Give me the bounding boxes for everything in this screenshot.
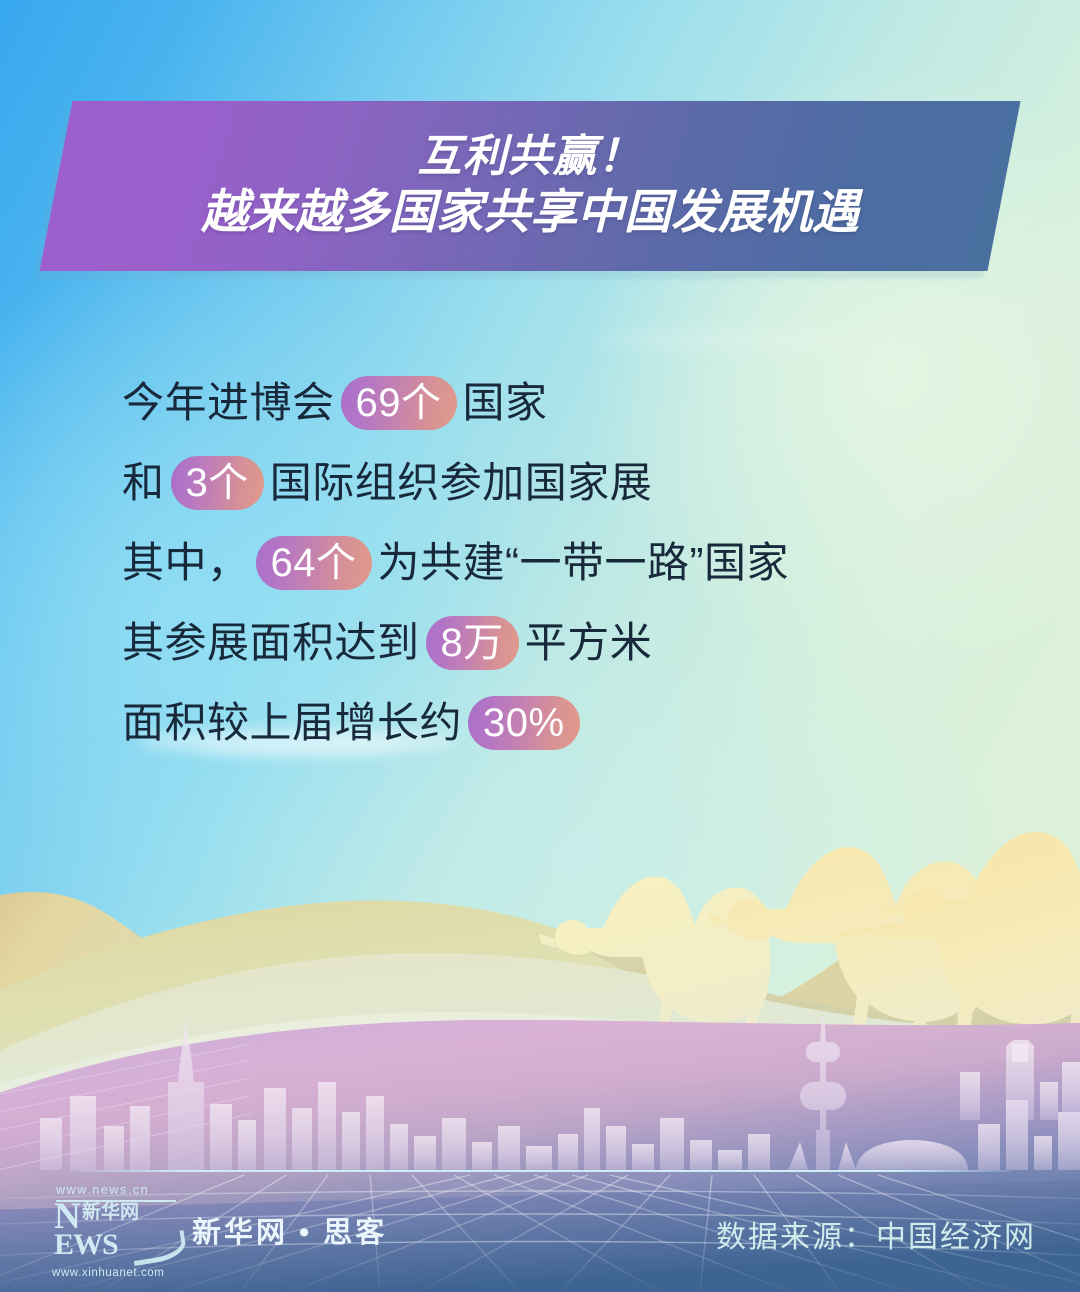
- camel-silhouette-3: [836, 832, 1080, 1066]
- footer-divider: [70, 1170, 1010, 1172]
- statement-1-post: 国家: [463, 382, 548, 424]
- statement-row-4: 其参展面积达到 8万 平方米: [122, 603, 1022, 683]
- statement-4-pre: 其参展面积达到: [122, 622, 420, 664]
- statement-2-pre: 和: [122, 462, 165, 504]
- cloud-wisp-3: [600, 330, 860, 350]
- statement-5-pre: 面积较上届增长约: [122, 702, 462, 744]
- city-skyline: [40, 1000, 1080, 1170]
- statement-2-highlight: 3个: [171, 456, 264, 510]
- title-line-1: 互利共赢！: [418, 132, 643, 182]
- xinhua-logo: www.news.cn N 新华网 EWS www.xinhuanet.com: [48, 1183, 188, 1279]
- brand-name: 新华网 • 思客: [192, 1209, 387, 1251]
- statement-row-2: 和 3个 国际组织参加国家展: [122, 443, 1022, 523]
- infographic-poster: 互利共赢！ 越来越多国家共享中国发展机遇 今年进博会 69个 国家 和 3个 国…: [0, 0, 1080, 1292]
- statement-row-1: 今年进博会 69个 国家: [122, 363, 1022, 443]
- logo-letter-n: N: [54, 1204, 81, 1230]
- light-streaks: [0, 1044, 250, 1176]
- data-source: 数据来源：中国经济网: [716, 1212, 1036, 1256]
- statement-1-pre: 今年进博会: [122, 382, 335, 424]
- title-line-2: 越来越多国家共享中国发展机遇: [201, 184, 859, 240]
- statement-row-5: 面积较上届增长约 30%: [122, 683, 1022, 763]
- city-skyline-right: [960, 1040, 1080, 1120]
- statement-list: 今年进博会 69个 国家 和 3个 国际组织参加国家展 其中， 64个 为共建“…: [122, 363, 1022, 763]
- statement-1-highlight: 69个: [341, 376, 457, 430]
- statement-3-highlight: 64个: [256, 536, 372, 590]
- statement-2-post: 国际组织参加国家展: [270, 462, 653, 504]
- camel-silhouette-2: [709, 847, 987, 1060]
- logo-divider: [56, 1200, 176, 1202]
- statement-row-3: 其中， 64个 为共建“一带一路”国家: [122, 523, 1022, 603]
- logo-cn-name: 新华网: [82, 1203, 139, 1223]
- logo-top-url: www.news.cn: [56, 1183, 149, 1197]
- perspective-grid: [0, 1175, 1080, 1292]
- statement-3-pre: 其中，: [122, 542, 250, 584]
- title-banner-shape: 互利共赢！ 越来越多国家共享中国发展机遇: [39, 101, 1020, 271]
- logo-news-text: EWS: [54, 1231, 118, 1259]
- logo-mark: N 新华网 EWS: [54, 1204, 182, 1260]
- statement-5-highlight: 30%: [468, 696, 580, 750]
- camel-silhouette-1: [539, 876, 770, 1056]
- logo-swoosh-icon: [130, 1230, 188, 1266]
- logo-bottom-url: www.xinhuanet.com: [52, 1267, 164, 1279]
- title-banner: 互利共赢！ 越来越多国家共享中国发展机遇: [0, 101, 1080, 273]
- statement-3-post: 为共建“一带一路”国家: [378, 542, 789, 584]
- statement-4-highlight: 8万: [426, 616, 519, 670]
- statement-4-post: 平方米: [525, 622, 653, 664]
